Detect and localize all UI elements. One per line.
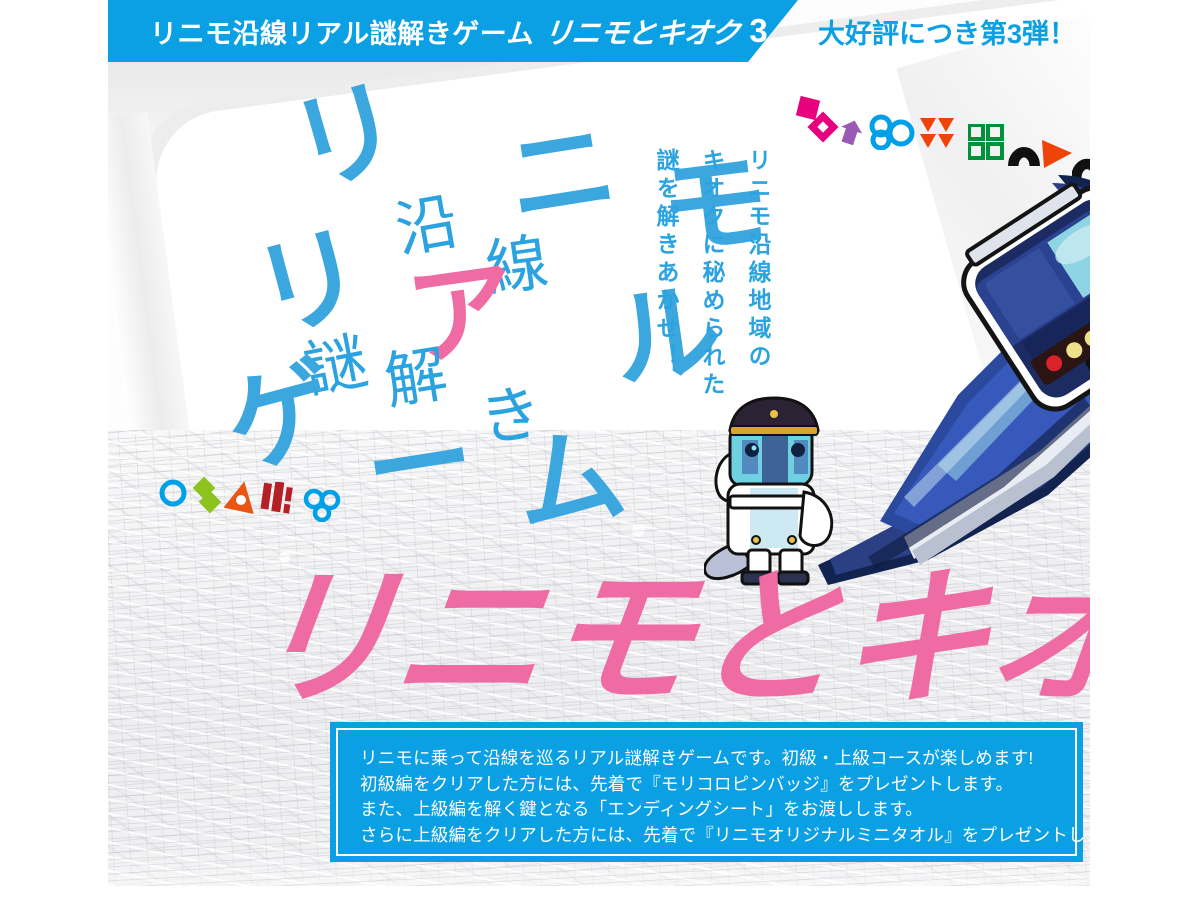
black-arcs-icon-1: [1008, 132, 1040, 168]
header-title-text: リニモ沿線リアル謎解きゲーム: [150, 12, 534, 51]
red-bars-icon: [260, 482, 298, 516]
info-line-4: さらに上級編をクリアした方には、先着で『リニモオリジナルミニタオル』をプレゼント…: [360, 823, 1053, 849]
info-box: リニモに乗って沿線を巡るリアル謎解きゲームです。初級・上級コースが楽しめます! …: [330, 722, 1083, 862]
poster-root: リ ニ モ 沿 線 リ ア ル 謎 解 き ゲ ー ム リニモ沿線地域の キオク…: [0, 0, 1200, 900]
display-kana-ni-1: ニ: [501, 121, 616, 229]
header-logo-mark: リニモとキオク: [542, 10, 742, 52]
linimo-train-illustration: [808, 165, 1090, 585]
header-logo-number: 3: [749, 12, 768, 50]
header-title-group: リニモ沿線リアル謎解きゲーム リニモとキオク 3: [150, 0, 768, 62]
tagline-column-2: キオクに秘められた: [700, 148, 723, 400]
orange-triangles-icon: [918, 116, 966, 150]
purple-chevron-icon: [838, 118, 864, 146]
header-subtitle: 大好評につき第3弾！: [818, 0, 1076, 62]
display-kana-mu: ム: [509, 428, 624, 536]
green-squares-icon: [968, 124, 1004, 160]
display-kana-dash: ー: [359, 413, 474, 521]
blue-trefoil-icon: [868, 114, 918, 150]
info-line-2: 初級編をクリアした方には、先着で『モリコロピンバッジ』をプレゼントします。: [360, 772, 1053, 798]
blue-trefoil-icon-2: [302, 488, 342, 522]
info-box-inner: リニモに乗って沿線を巡るリアル謎解きゲームです。初級・上級コースが楽しめます! …: [336, 728, 1077, 856]
main-wordmark: リニモとキオク: [237, 548, 1090, 728]
blue-ring-icon: [158, 478, 188, 508]
display-kana-en: 沿: [392, 195, 462, 258]
header-banner: リニモ沿線リアル謎解きゲーム リニモとキオク 3 大好評につき第3弾！: [108, 0, 1090, 62]
info-line-1: リニモに乗って沿線を巡るリアル謎解きゲームです。初級・上級コースが楽しめます!: [360, 746, 1053, 772]
tagline-column-1: リニモ沿線地域の: [746, 148, 769, 372]
orange-triangle-hole-icon: [224, 480, 258, 514]
info-line-3: また、上級編を解く鍵となる「エンディングシート」をお渡しします。: [360, 797, 1053, 823]
poster-plate: リ ニ モ 沿 線 リ ア ル 謎 解 き ゲ ー ム リニモ沿線地域の キオク…: [108, 0, 1090, 886]
tagline-column-3: 謎を解きあかせ！: [654, 148, 677, 372]
decoration-cluster-bottom-left: [150, 472, 360, 532]
